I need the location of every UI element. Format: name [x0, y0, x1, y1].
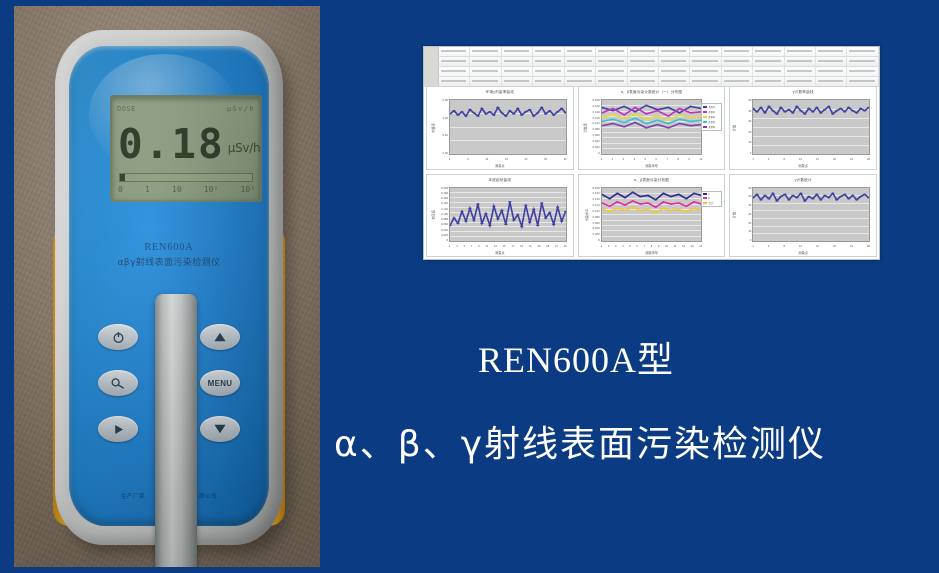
series-marker — [460, 111, 463, 112]
table-cell[interactable] — [533, 67, 564, 76]
y-tick-label: 0.160 — [593, 105, 600, 108]
chart-series-layer — [602, 188, 702, 242]
table-cell[interactable] — [565, 47, 596, 56]
y-tick-label: 0.00 — [443, 152, 448, 155]
series-marker — [484, 113, 487, 114]
series-marker — [633, 107, 636, 108]
table-cell[interactable] — [816, 57, 847, 66]
legend-label: α — [708, 193, 709, 196]
series-marker — [633, 117, 636, 118]
series-marker — [452, 110, 455, 111]
series-marker — [633, 122, 636, 123]
series-marker — [540, 202, 543, 203]
caption-model: REN600A型 — [478, 331, 674, 383]
series-marker — [812, 197, 815, 198]
x-tick-label: 9 — [658, 245, 659, 250]
legend-swatch — [703, 106, 707, 108]
series-marker — [564, 210, 566, 211]
y-tick-label: 0.060 — [593, 222, 600, 225]
photo-vignette — [14, 6, 320, 567]
y-tick-label: 10 — [748, 141, 751, 144]
x-tick-label: 16 — [816, 158, 819, 163]
series-marker — [528, 109, 531, 110]
series-marker — [689, 106, 692, 107]
y-tick-label: 0 — [446, 239, 448, 242]
x-tick-label: 15 — [505, 158, 508, 163]
series-marker — [456, 114, 459, 115]
table-cell[interactable] — [596, 67, 627, 76]
series-marker — [496, 107, 499, 108]
series-marker — [472, 112, 475, 113]
series-marker — [646, 202, 649, 203]
series-marker — [611, 119, 614, 120]
series-marker — [532, 115, 535, 116]
legend-swatch — [703, 116, 707, 118]
row-header — [424, 57, 439, 66]
series-marker — [784, 193, 787, 194]
legend-label: 合计 — [708, 201, 713, 205]
series-marker — [484, 212, 487, 213]
legend-swatch — [703, 121, 707, 123]
series-marker — [476, 115, 479, 116]
y-tick-label: 0.10 — [443, 134, 448, 137]
series-marker — [760, 199, 763, 200]
table-cell[interactable] — [722, 47, 753, 56]
series-marker — [520, 225, 523, 226]
series-marker — [536, 112, 539, 113]
table-cell[interactable] — [628, 67, 659, 76]
series-marker — [540, 107, 543, 108]
series-marker — [835, 199, 838, 200]
legend-swatch — [703, 126, 707, 128]
table-cell[interactable] — [785, 47, 816, 56]
chart-title: 本底起伏曲线 — [427, 178, 573, 183]
chart-title: γ计数率曲线 — [730, 90, 876, 95]
x-tick-label: 19 — [520, 245, 523, 250]
y-tick-label: 0.200 — [441, 187, 448, 190]
row-header — [424, 47, 439, 56]
x-tick-label: 4 — [768, 158, 769, 163]
x-tick-label: 28 — [867, 158, 870, 163]
series-marker — [808, 195, 811, 196]
x-tick-label: 7 — [644, 245, 645, 250]
chart-y-ticks: 0.1800.1600.1400.1200.1000.0800.0600.040… — [581, 187, 600, 243]
y-tick-label: 0.040 — [593, 140, 600, 143]
table-row[interactable] — [424, 57, 879, 67]
table-cell[interactable] — [847, 47, 878, 56]
series-marker — [820, 112, 823, 113]
series-marker — [692, 207, 695, 208]
series-marker — [678, 108, 681, 109]
table-row[interactable] — [424, 67, 879, 77]
series-marker — [548, 211, 551, 212]
x-tick-label: 5 — [464, 245, 465, 250]
table-cell[interactable] — [470, 57, 501, 66]
chart-legend: 系列1系列2系列3系列4系列5 — [701, 103, 722, 131]
y-tick-label: 60 — [748, 187, 751, 190]
x-tick-label: 21 — [529, 245, 532, 250]
x-tick-label: 29 — [564, 245, 567, 250]
y-tick-label: 0.180 — [593, 187, 600, 190]
series-line — [753, 193, 869, 200]
series-marker — [645, 127, 648, 128]
y-tick-label: 0.30 — [443, 99, 448, 102]
series-marker — [631, 206, 634, 207]
x-tick-label: 11 — [674, 245, 677, 250]
series-marker — [631, 200, 634, 201]
y-tick-label: 0.20 — [443, 117, 448, 120]
table-cell[interactable] — [502, 47, 533, 56]
y-tick-label: 0.140 — [593, 111, 600, 114]
series-marker — [608, 197, 611, 198]
series-marker — [678, 112, 681, 113]
legend-label: 系列1 — [708, 105, 714, 109]
chart-series-layer — [602, 100, 702, 154]
table-cell[interactable] — [690, 47, 721, 56]
series-marker — [792, 112, 795, 113]
series-marker — [616, 201, 619, 202]
chart-xlabel: 测量点 — [427, 163, 573, 168]
x-tick-label: 28 — [867, 245, 870, 250]
series-marker — [780, 195, 783, 196]
chart-y-ticks: 6050403020100 — [732, 187, 751, 243]
series-marker — [645, 123, 648, 124]
series-marker — [611, 108, 614, 109]
table-cell[interactable] — [785, 57, 816, 66]
series-marker — [548, 110, 551, 111]
x-tick-label: 23 — [538, 245, 541, 250]
chart-title: α、β表面污染计数统计（一）分布图 — [579, 90, 725, 95]
series-marker — [768, 106, 771, 107]
series-marker — [536, 224, 539, 225]
series-marker — [831, 113, 834, 114]
series-marker — [689, 125, 692, 126]
y-tick-label: 0.180 — [441, 192, 448, 195]
y-tick-label: 0.140 — [441, 202, 448, 205]
series-marker — [804, 200, 807, 201]
series-marker — [623, 209, 626, 210]
series-marker — [863, 110, 866, 111]
series-marker — [623, 196, 626, 197]
series-marker — [843, 193, 846, 194]
legend-label: 系列4 — [708, 120, 714, 124]
series-marker — [654, 206, 657, 207]
x-tick-label: 1 — [601, 245, 602, 250]
series-marker — [824, 194, 827, 195]
y-tick-label: 50 — [748, 195, 751, 198]
legend-label: 系列5 — [708, 125, 714, 129]
x-tick-label: 4 — [768, 245, 769, 250]
series-marker — [520, 114, 523, 115]
table-cell[interactable] — [816, 67, 847, 76]
x-tick-label: 2 — [612, 158, 613, 163]
table-cell[interactable] — [628, 57, 659, 66]
chart-plot-area — [449, 187, 567, 243]
x-tick-label: 12 — [799, 245, 802, 250]
table-cell[interactable] — [753, 47, 784, 56]
series-marker — [639, 209, 642, 210]
series-marker — [622, 122, 625, 123]
table-cell[interactable] — [533, 57, 564, 66]
series-marker — [622, 106, 625, 107]
table-cell[interactable] — [470, 67, 501, 76]
series-marker — [460, 210, 463, 211]
y-tick-label: 0.080 — [593, 216, 600, 219]
legend-item: 系列5 — [703, 125, 720, 129]
series-marker — [633, 113, 636, 114]
series-marker — [508, 201, 511, 202]
series-marker — [560, 108, 563, 109]
x-tick-label: 8 — [783, 158, 784, 163]
series-marker — [792, 194, 795, 195]
table-cell[interactable] — [785, 67, 816, 76]
series-marker — [524, 111, 527, 112]
series-marker — [839, 195, 842, 196]
legend-label: 系列3 — [708, 115, 714, 119]
x-tick-label: 5 — [645, 158, 646, 163]
series-marker — [464, 220, 467, 221]
x-tick-label: 12 — [799, 158, 802, 163]
series-marker — [645, 119, 648, 120]
table-cell[interactable] — [847, 67, 878, 76]
table-cell[interactable] — [722, 57, 753, 66]
table-cell[interactable] — [439, 57, 470, 66]
table-cell[interactable] — [470, 47, 501, 56]
series-marker — [488, 111, 491, 112]
y-tick-label: 30 — [748, 120, 751, 123]
x-tick-label: 20 — [833, 245, 836, 250]
series-marker — [820, 199, 823, 200]
series-marker — [776, 200, 779, 201]
y-tick-label: 0.180 — [593, 99, 600, 102]
y-tick-label: 10 — [748, 230, 751, 233]
x-tick-label: 20 — [833, 158, 836, 163]
table-cell[interactable] — [565, 57, 596, 66]
chart-title: α、β表面污染分布图 — [579, 178, 725, 183]
series-line — [450, 201, 566, 226]
chart-x-ticks: 1234567891011121314 — [601, 245, 703, 250]
table-cell[interactable] — [690, 67, 721, 76]
y-tick-label: 0.060 — [441, 223, 448, 226]
series-marker — [835, 110, 838, 111]
x-tick-label: 1 — [601, 158, 602, 163]
series-marker — [768, 197, 771, 198]
series-marker — [788, 199, 791, 200]
table-cell[interactable] — [439, 67, 470, 76]
series-marker — [669, 203, 672, 204]
product-photo: DOSE μSv/h 0.18 μSv/h 0 1 10 10² — [14, 6, 320, 567]
x-tick-label: 10 — [699, 158, 702, 163]
chart-x-ticks: 151015202530 — [449, 158, 567, 163]
series-marker — [656, 115, 659, 116]
series-marker — [678, 119, 681, 120]
series-marker — [633, 111, 636, 112]
series-marker — [496, 218, 499, 219]
x-tick-label: 5 — [629, 245, 630, 250]
y-tick-label: 0.080 — [441, 218, 448, 221]
series-marker — [645, 105, 648, 106]
x-tick-label: 11 — [485, 245, 488, 250]
row-header — [424, 67, 439, 76]
series-marker — [622, 117, 625, 118]
legend-item: α — [703, 193, 720, 196]
series-marker — [667, 127, 670, 128]
legend-swatch — [703, 111, 707, 113]
series-marker — [512, 219, 515, 220]
y-tick-label: 0.040 — [593, 227, 600, 230]
y-tick-label: 20 — [748, 131, 751, 134]
x-tick-label: 3 — [623, 158, 624, 163]
series-marker — [839, 108, 842, 109]
x-tick-label: 5 — [467, 158, 468, 163]
series-marker — [851, 194, 854, 195]
chart-legend: αβ合计 — [701, 191, 722, 207]
series-marker — [812, 111, 815, 112]
series-marker — [488, 224, 491, 225]
x-tick-label: 2 — [608, 245, 609, 250]
series-marker — [756, 193, 759, 194]
series-marker — [847, 197, 850, 198]
x-tick-label: 9 — [688, 158, 689, 163]
series-marker — [556, 206, 559, 207]
table-cell[interactable] — [439, 47, 470, 56]
x-tick-label: 8 — [651, 245, 652, 250]
y-tick-label: 0.100 — [441, 213, 448, 216]
series-marker — [685, 197, 688, 198]
chart-panel: α、β表面污染计数统计（一）分布图计数率测量序号0.1800.1600.1400… — [578, 86, 726, 170]
series-marker — [645, 113, 648, 114]
x-tick-label: 13 — [691, 245, 694, 250]
y-tick-label: 0 — [598, 152, 600, 155]
chart-series-layer — [450, 100, 566, 154]
x-tick-label: 10 — [665, 245, 668, 250]
series-marker — [656, 120, 659, 121]
series-marker — [504, 223, 507, 224]
x-tick-label: 30 — [564, 158, 567, 163]
legend-item: β — [703, 197, 720, 200]
y-tick-label: 0.120 — [593, 117, 600, 120]
table-cell[interactable] — [753, 67, 784, 76]
y-tick-label: 0.060 — [593, 134, 600, 137]
chart-x-ticks: 12345678910 — [601, 158, 703, 163]
table-cell[interactable] — [816, 47, 847, 56]
slide-root: DOSE μSv/h 0.18 μSv/h 0 1 10 10² — [0, 0, 939, 573]
series-marker — [492, 205, 495, 206]
y-tick-label: 0.020 — [593, 146, 600, 149]
series-marker — [456, 222, 459, 223]
x-tick-label: 10 — [485, 158, 488, 163]
series-marker — [656, 124, 659, 125]
series-marker — [480, 108, 483, 109]
y-tick-label: 0 — [750, 152, 752, 155]
legend-swatch — [703, 202, 707, 204]
x-tick-label: 24 — [850, 158, 853, 163]
y-tick-label: 0.160 — [593, 192, 600, 195]
table-cell[interactable] — [690, 57, 721, 66]
series-marker — [622, 126, 625, 127]
table-row[interactable] — [424, 47, 879, 57]
series-marker — [452, 217, 455, 218]
table-cell[interactable] — [502, 57, 533, 66]
chart-plot-area — [601, 187, 703, 243]
table-cell[interactable] — [659, 47, 690, 56]
table-cell[interactable] — [628, 47, 659, 56]
series-marker — [508, 110, 511, 111]
table-cell[interactable] — [753, 57, 784, 66]
series-marker — [532, 208, 535, 209]
x-tick-label: 17 — [511, 245, 514, 250]
chart-xlabel: 测量序号 — [579, 163, 725, 168]
series-marker — [616, 192, 619, 193]
series-marker — [859, 195, 862, 196]
series-marker — [796, 196, 799, 197]
x-tick-label: 7 — [471, 245, 472, 250]
series-marker — [685, 205, 688, 206]
series-marker — [689, 112, 692, 113]
series-marker — [780, 107, 783, 108]
series-marker — [639, 203, 642, 204]
series-marker — [685, 210, 688, 211]
chart-series-layer — [753, 100, 869, 154]
series-marker — [552, 223, 555, 224]
x-tick-label: 6 — [636, 245, 637, 250]
series-marker — [552, 114, 555, 115]
series-marker — [847, 107, 850, 108]
chart-y-ticks: 0.1800.1600.1400.1200.1000.0800.0600.040… — [581, 99, 600, 155]
y-tick-label: 50 — [748, 99, 751, 102]
series-marker — [678, 114, 681, 115]
chart-panel: 本底起伏曲线本底值测量点0.2000.1800.1600.1400.1200.1… — [426, 174, 574, 258]
table-cell[interactable] — [596, 47, 627, 56]
table-cell[interactable] — [596, 57, 627, 66]
series-marker — [855, 112, 858, 113]
series-marker — [646, 194, 649, 195]
table-cell[interactable] — [659, 57, 690, 66]
table-cell[interactable] — [847, 57, 878, 66]
y-tick-label: 0.080 — [593, 128, 600, 131]
series-marker — [855, 199, 858, 200]
series-marker — [669, 209, 672, 210]
y-tick-label: 0.160 — [441, 197, 448, 200]
series-marker — [788, 109, 791, 110]
y-tick-label: 0.140 — [593, 198, 600, 201]
table-cell[interactable] — [533, 47, 564, 56]
series-marker — [689, 121, 692, 122]
table-cell[interactable] — [565, 67, 596, 76]
series-marker — [468, 207, 471, 208]
x-tick-label: 14 — [699, 245, 702, 250]
legend-item: 系列3 — [703, 115, 720, 119]
chart-panel: γ计数率曲线计数测量点504030201001481216202428 — [729, 86, 877, 170]
y-tick-label: 20 — [748, 222, 751, 225]
series-marker — [772, 110, 775, 111]
x-tick-label: 7 — [666, 158, 667, 163]
table-cell[interactable] — [502, 67, 533, 76]
table-cell[interactable] — [722, 67, 753, 76]
series-marker — [556, 111, 559, 112]
x-tick-label: 8 — [677, 158, 678, 163]
series-marker — [760, 107, 763, 108]
series-marker — [851, 110, 854, 111]
series-marker — [654, 199, 657, 200]
series-line — [753, 106, 869, 113]
table-cell[interactable] — [659, 67, 690, 76]
x-tick-label: 13 — [494, 245, 497, 250]
x-tick-label: 15 — [503, 245, 506, 250]
series-marker — [808, 108, 811, 109]
series-marker — [622, 114, 625, 115]
x-tick-label: 1 — [449, 245, 450, 250]
